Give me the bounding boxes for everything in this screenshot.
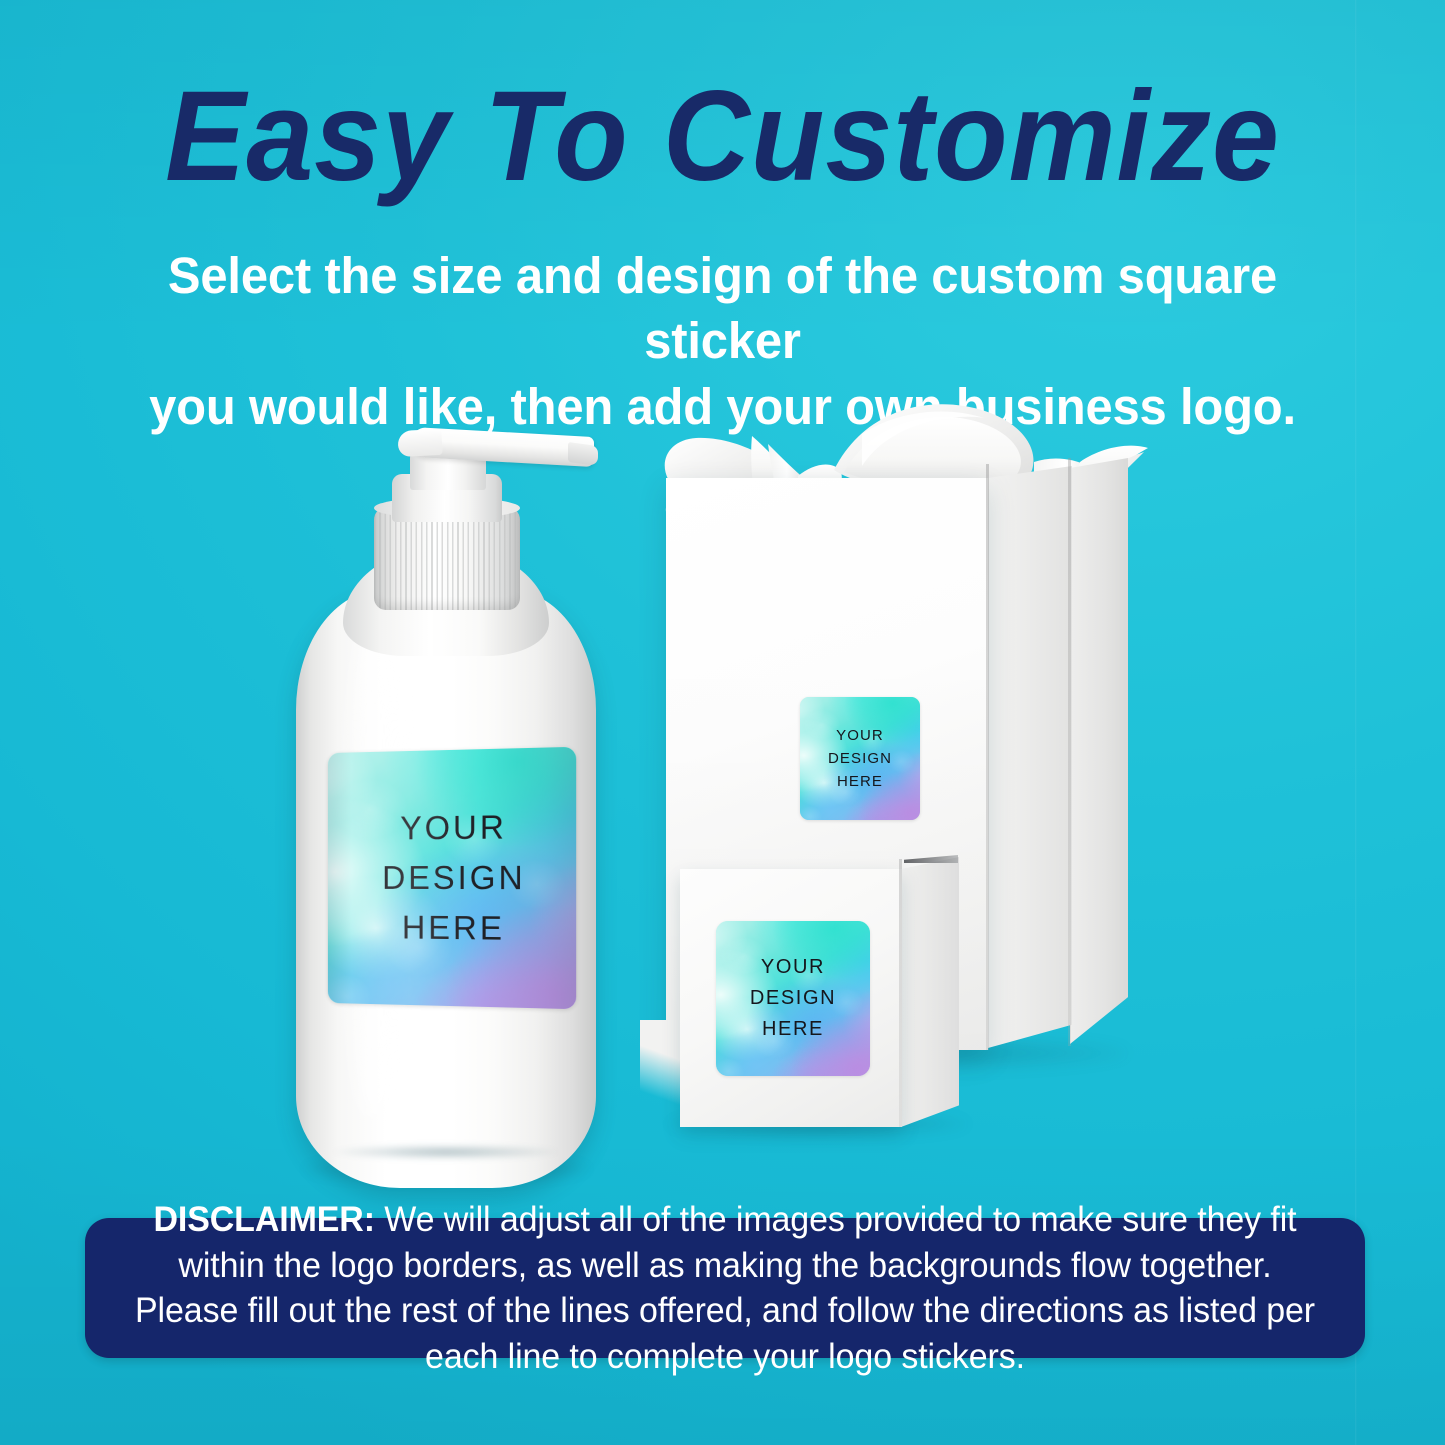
subtitle-line-1: Select the size and design of the custom… bbox=[135, 243, 1311, 374]
gift-box-lid-seam-outer bbox=[1068, 458, 1071, 1046]
bottle-pump-spout-tip bbox=[568, 442, 598, 466]
gift-box-side-panel-outer bbox=[1070, 458, 1128, 1044]
watercolor-layer-mottle bbox=[328, 747, 576, 1009]
small-box-side-panel bbox=[901, 857, 959, 1127]
promo-banner: Easy To Customize Select the size and de… bbox=[0, 0, 1445, 1445]
gift-box-side-panel bbox=[988, 466, 1072, 1048]
bottle-contact-shadow bbox=[332, 1144, 560, 1160]
watercolor-layer-mottle bbox=[716, 921, 870, 1076]
disclaimer-label: DISCLAIMER: bbox=[153, 1200, 374, 1239]
disclaimer-panel: DISCLAIMER: We will adjust all of the im… bbox=[85, 1218, 1365, 1358]
watercolor-layer-mottle bbox=[800, 697, 920, 820]
bottle-sticker-label[interactable]: YOUR DESIGN HERE bbox=[328, 747, 576, 1009]
small-box-lid-edge bbox=[904, 855, 958, 863]
gift-box-sticker[interactable]: YOUR DESIGN HERE bbox=[800, 697, 920, 820]
product-small-box: YOUR DESIGN HERE bbox=[668, 855, 968, 1145]
page-title: Easy To Customize bbox=[43, 72, 1401, 203]
product-pump-bottle: YOUR DESIGN HERE bbox=[288, 428, 604, 1188]
bottle-pump-spout-base bbox=[397, 429, 442, 457]
small-box-edge-seam bbox=[899, 859, 902, 1127]
small-box-sticker[interactable]: YOUR DESIGN HERE bbox=[716, 921, 870, 1076]
disclaimer-text: DISCLAIMER: We will adjust all of the im… bbox=[129, 1197, 1320, 1379]
gift-box-lid-seam bbox=[986, 464, 989, 1050]
